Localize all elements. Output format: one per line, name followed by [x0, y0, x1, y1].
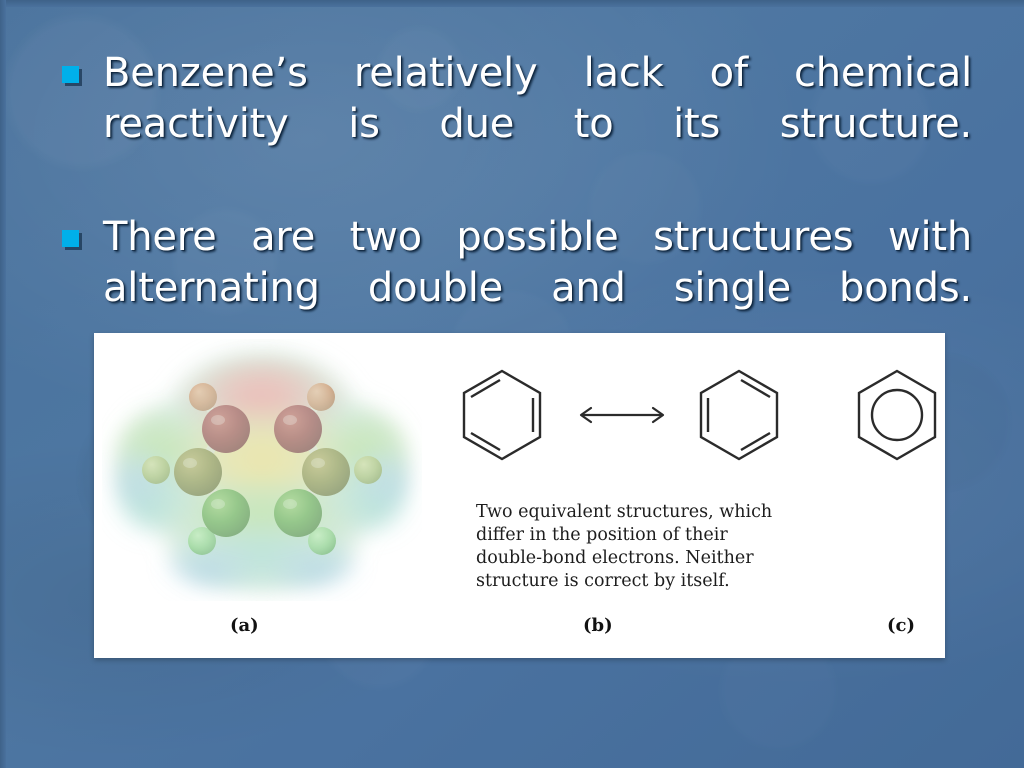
kekule-structure-left: [464, 371, 540, 459]
benzene-structures-svg: [454, 363, 944, 488]
square-bullet-icon: [62, 66, 79, 83]
panel-label-c: (c): [887, 615, 915, 636]
slide-top-edge: [0, 0, 1024, 7]
benzene-esp-svg: [102, 339, 422, 601]
bullet-list: Benzene’s relatively lack of chemical re…: [62, 48, 972, 375]
kekule-structure-right: [701, 371, 777, 459]
slide-left-edge: [0, 0, 6, 768]
benzene-structures-figure: [454, 363, 944, 488]
panel-label-a: (a): [230, 615, 259, 636]
square-bullet-icon: [62, 230, 79, 247]
bullet-item-1: Benzene’s relatively lack of chemical re…: [62, 48, 972, 202]
resonance-arrow: [581, 408, 663, 422]
panel-label-b: (b): [583, 615, 613, 636]
bullet-text-1: Benzene’s relatively lack of chemical re…: [103, 48, 972, 202]
delocalized-benzene-structure: [859, 371, 935, 459]
presentation-slide: Benzene’s relatively lack of chemical re…: [0, 0, 1024, 768]
figure-caption-b: Two equivalent structures, which differ …: [476, 501, 796, 593]
benzene-potential-map-figure: [102, 339, 422, 601]
esp-surface-overlay: [122, 357, 402, 585]
figure-panel: Two equivalent structures, which differ …: [94, 333, 945, 658]
